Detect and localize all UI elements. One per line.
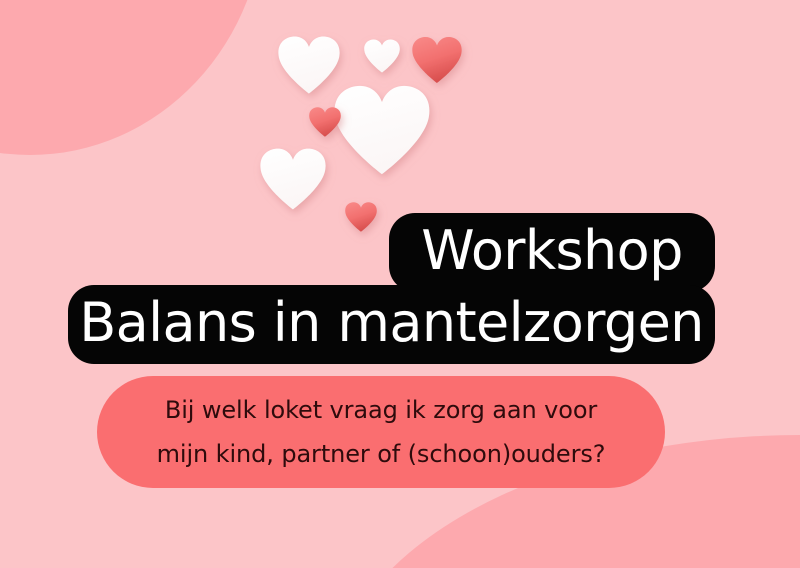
heart-white-top-left [278, 36, 339, 93]
heart-white-bottom-left [260, 149, 325, 210]
subtitle-box: Bij welk loket vraag ik zorg aan voor mi… [97, 376, 665, 488]
subtitle-line-2-text: mijn kind, partner of (schoon)ouders? [157, 442, 606, 466]
heart-red-top-right [412, 37, 461, 83]
poster-canvas: Workshop Balans in mantelzorgen Bij welk… [0, 0, 800, 568]
title-line-1-text: Workshop [421, 224, 683, 278]
subtitle-line-1-text: Bij welk loket vraag ik zorg aan voor [165, 398, 597, 422]
title-box-line-1: Workshop [389, 213, 715, 292]
title-box-line-2: Balans in mantelzorgen [68, 285, 715, 364]
title-line-2-text: Balans in mantelzorgen [79, 296, 704, 350]
heart-white-large [335, 86, 430, 174]
heart-red-bottom [345, 202, 377, 231]
heart-red-small-left [309, 107, 341, 136]
heart-white-small-top [364, 39, 400, 72]
